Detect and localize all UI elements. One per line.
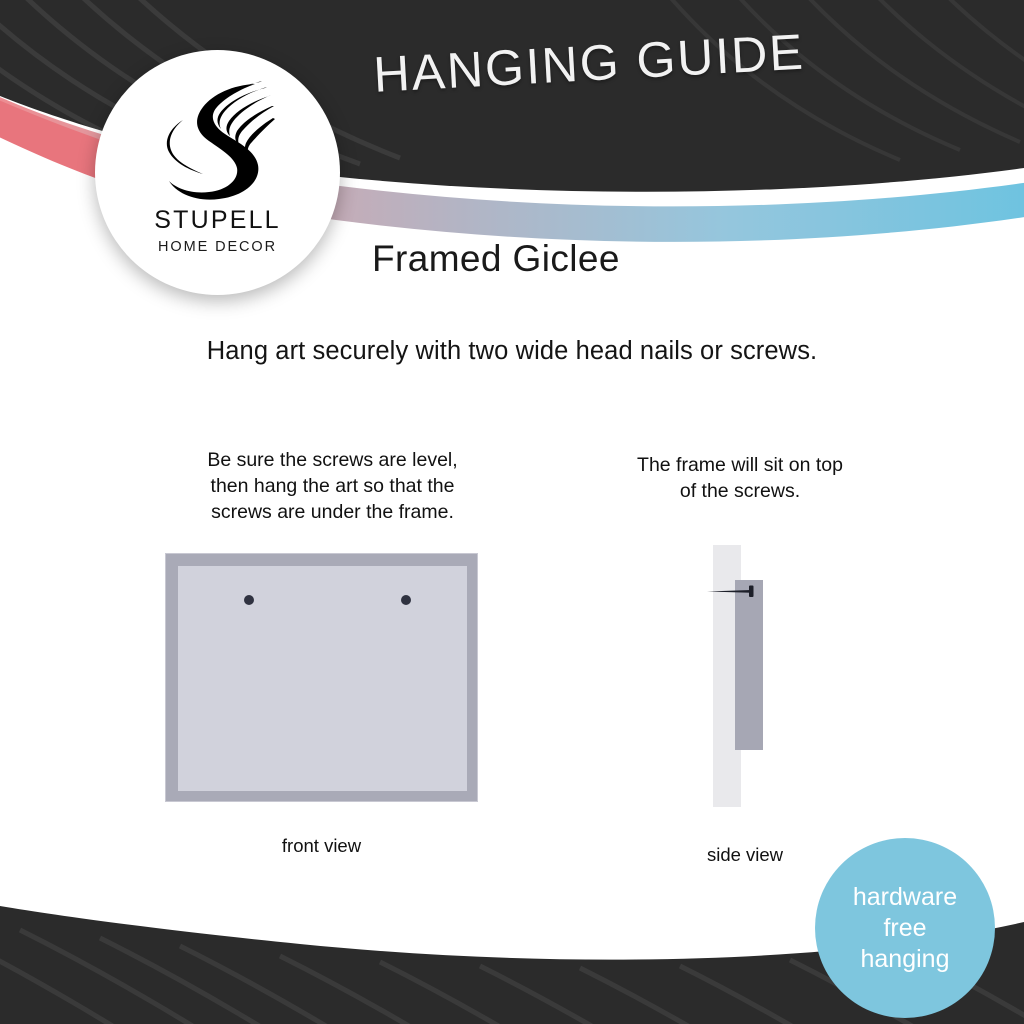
side-view-frame bbox=[735, 580, 763, 750]
stupell-logo-badge: STUPELL HOME DECOR bbox=[95, 50, 340, 295]
badge-line-1: hardware bbox=[853, 882, 957, 913]
front-view-frame-inner bbox=[178, 566, 467, 791]
main-instruction: Hang art securely with two wide head nai… bbox=[0, 337, 1024, 366]
side-caption-line-2: of the screws. bbox=[590, 478, 890, 504]
side-caption-line-1: The frame will sit on top bbox=[590, 452, 890, 478]
page-title: HANGING GUIDE bbox=[372, 23, 806, 104]
front-view-caption: Be sure the screws are level, then hang … bbox=[150, 447, 515, 525]
hanging-guide-page: STUPELL HOME DECOR HANGING GUIDE Framed … bbox=[0, 0, 1024, 1024]
screw-dot-right-icon bbox=[401, 595, 411, 605]
stupell-swoosh-icon bbox=[159, 78, 277, 200]
side-view-caption: The frame will sit on top of the screws. bbox=[590, 452, 890, 504]
side-view-diagram bbox=[705, 545, 785, 807]
badge-line-2: free bbox=[883, 913, 926, 944]
logo-wordmark: STUPELL bbox=[154, 206, 281, 235]
front-view-frame-diagram bbox=[165, 553, 478, 802]
product-name: Framed Giclee bbox=[372, 238, 620, 280]
screw-dot-left-icon bbox=[244, 595, 254, 605]
front-caption-line-3: screws are under the frame. bbox=[150, 499, 515, 525]
logo-subwordmark: HOME DECOR bbox=[158, 239, 277, 255]
nail-icon bbox=[705, 581, 767, 601]
front-view-label: front view bbox=[165, 835, 478, 857]
side-view-label: side view bbox=[660, 844, 830, 866]
hardware-free-hanging-badge: hardware free hanging bbox=[815, 838, 995, 1018]
front-caption-line-1: Be sure the screws are level, bbox=[150, 447, 515, 473]
badge-line-3: hanging bbox=[861, 944, 950, 975]
front-caption-line-2: then hang the art so that the bbox=[150, 473, 515, 499]
